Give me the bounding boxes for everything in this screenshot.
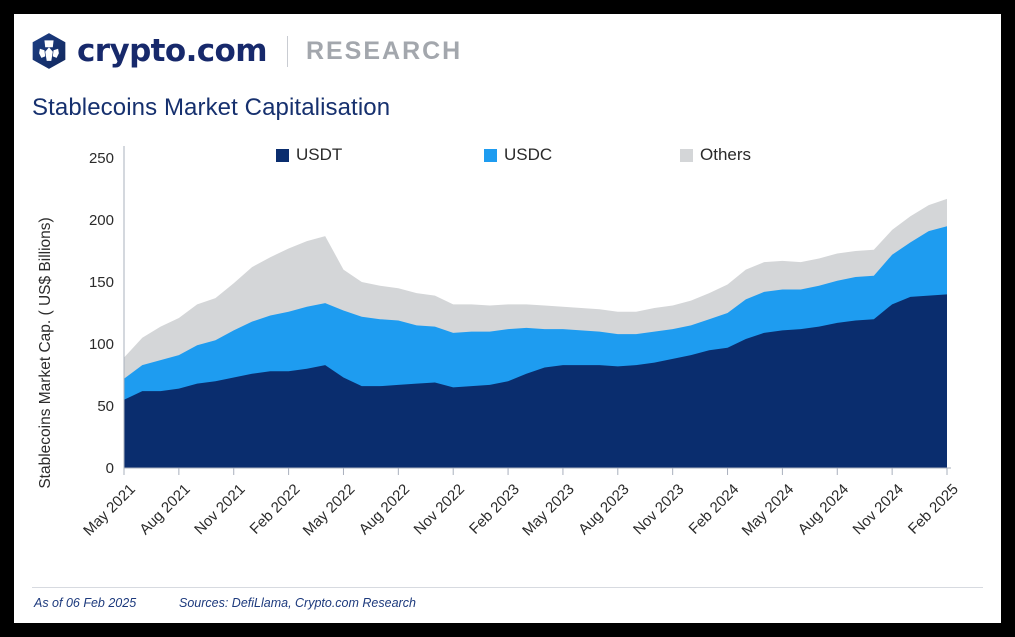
as-of-date: As of 06 Feb 2025 — [34, 596, 136, 610]
x-tick-label: Nov 2024 — [850, 481, 907, 538]
y-tick-label: 150 — [89, 274, 114, 291]
report-card: crypto.com RESEARCH Stablecoins Market C… — [14, 14, 1001, 623]
sources-note: Sources: DefiLlama, Crypto.com Research — [179, 596, 416, 610]
area-series-group — [124, 199, 947, 468]
y-tick-label: 250 — [89, 150, 114, 167]
x-tick-label: Aug 2024 — [795, 481, 852, 538]
x-tick-label: May 2023 — [519, 481, 578, 540]
x-tick-label: Aug 2023 — [575, 481, 632, 538]
x-tick-label: May 2021 — [80, 481, 139, 540]
x-tick-label: Aug 2021 — [136, 481, 193, 538]
y-axis-label: Stablecoins Market Cap. ( US$ Billions) — [37, 217, 54, 488]
x-tick-label: Feb 2025 — [905, 481, 962, 538]
x-tick-label: May 2024 — [739, 481, 798, 540]
x-tick-label: Aug 2022 — [356, 481, 413, 538]
screenshot-root: crypto.com RESEARCH Stablecoins Market C… — [0, 0, 1015, 637]
x-tick-label: Feb 2024 — [686, 481, 743, 538]
y-tick-labels-group: 050100150200250 — [89, 150, 114, 477]
y-tick-label: 50 — [97, 398, 114, 415]
x-tick-label: Feb 2022 — [247, 481, 304, 538]
footer-divider — [32, 587, 983, 588]
x-tick-label: Nov 2023 — [630, 481, 687, 538]
x-tick-label: May 2022 — [300, 481, 359, 540]
stacked-area-chart: 050100150200250 May 2021Aug 2021Nov 2021… — [14, 14, 1001, 623]
x-tick-label: Feb 2023 — [466, 481, 523, 538]
chart-footer: As of 06 Feb 2025 Sources: DefiLlama, Cr… — [14, 587, 1001, 623]
x-tick-label: Nov 2021 — [191, 481, 248, 538]
y-tick-label: 200 — [89, 212, 114, 229]
y-tick-label: 0 — [106, 460, 114, 477]
x-tick-label: Nov 2022 — [411, 481, 468, 538]
chart-plot-area: 050100150200250 May 2021Aug 2021Nov 2021… — [14, 14, 1001, 623]
y-tick-label: 100 — [89, 336, 114, 353]
x-tick-labels-group: May 2021Aug 2021Nov 2021Feb 2022May 2022… — [80, 481, 962, 540]
